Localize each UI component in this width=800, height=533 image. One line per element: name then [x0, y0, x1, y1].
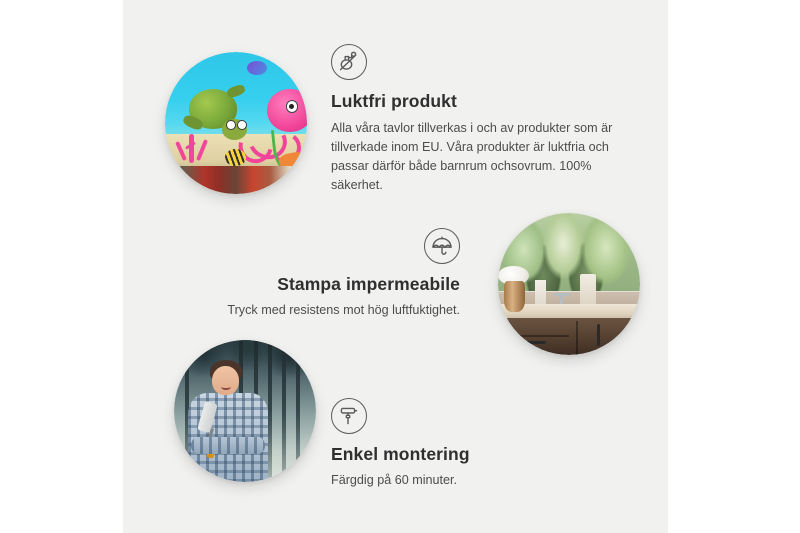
underwater-sea-life-mural-photo [165, 52, 307, 194]
painter-photo-inner [174, 340, 316, 482]
vanity-seam-vertical [576, 321, 578, 355]
vanity-seam-horizontal [507, 335, 569, 337]
feature-heading: Enkel montering [331, 444, 623, 465]
ribbed-vase [504, 281, 525, 312]
bathroom-tropical-wallpaper-photo [498, 213, 640, 355]
no-perfume-spray-icon [331, 44, 367, 80]
feature-heading: Stampa impermeabile [168, 274, 460, 295]
tree-trunk-3 [282, 340, 286, 482]
tissue-box [535, 280, 546, 306]
person-face [212, 366, 239, 396]
blue-fish [247, 61, 267, 75]
woman-with-paint-roller-photo [174, 340, 316, 482]
bathroom-photo-inner [498, 213, 640, 355]
pink-coral [175, 123, 218, 163]
feature-body: Färgdig på 60 minuter. [331, 471, 623, 490]
tree-trunk-2 [268, 340, 272, 482]
feature-mounting: Enkel montering Färgdig på 60 minuter. [331, 398, 623, 490]
feature-waterproof: Stampa impermeabile Tryck med resistens … [168, 228, 460, 320]
tree-trunk-4 [296, 340, 300, 482]
feature-odourless: Luktfri produkt Alla våra tavlor tillver… [331, 44, 623, 195]
forest-canopy [174, 340, 316, 400]
sea-photo-bottom-strip [165, 166, 307, 194]
sea-photo-inner [165, 52, 307, 194]
striped-fish-large [225, 149, 246, 166]
umbrella-icon [424, 228, 460, 264]
person-crossed-arms [191, 437, 265, 454]
feature-body: Alla våra tavlor tillverkas i och av pro… [331, 119, 623, 195]
drawer-handle [518, 341, 546, 344]
turtle-eye-left [226, 120, 236, 130]
paint-roller-icon [331, 398, 367, 434]
feature-heading: Luktfri produkt [331, 91, 623, 112]
feature-body: Tryck med resistens mot hög luftfuktighe… [168, 301, 460, 320]
cabinet-door-handle [597, 324, 600, 347]
product-feature-infographic: Luktfri produkt Alla våra tavlor tillver… [0, 0, 800, 533]
